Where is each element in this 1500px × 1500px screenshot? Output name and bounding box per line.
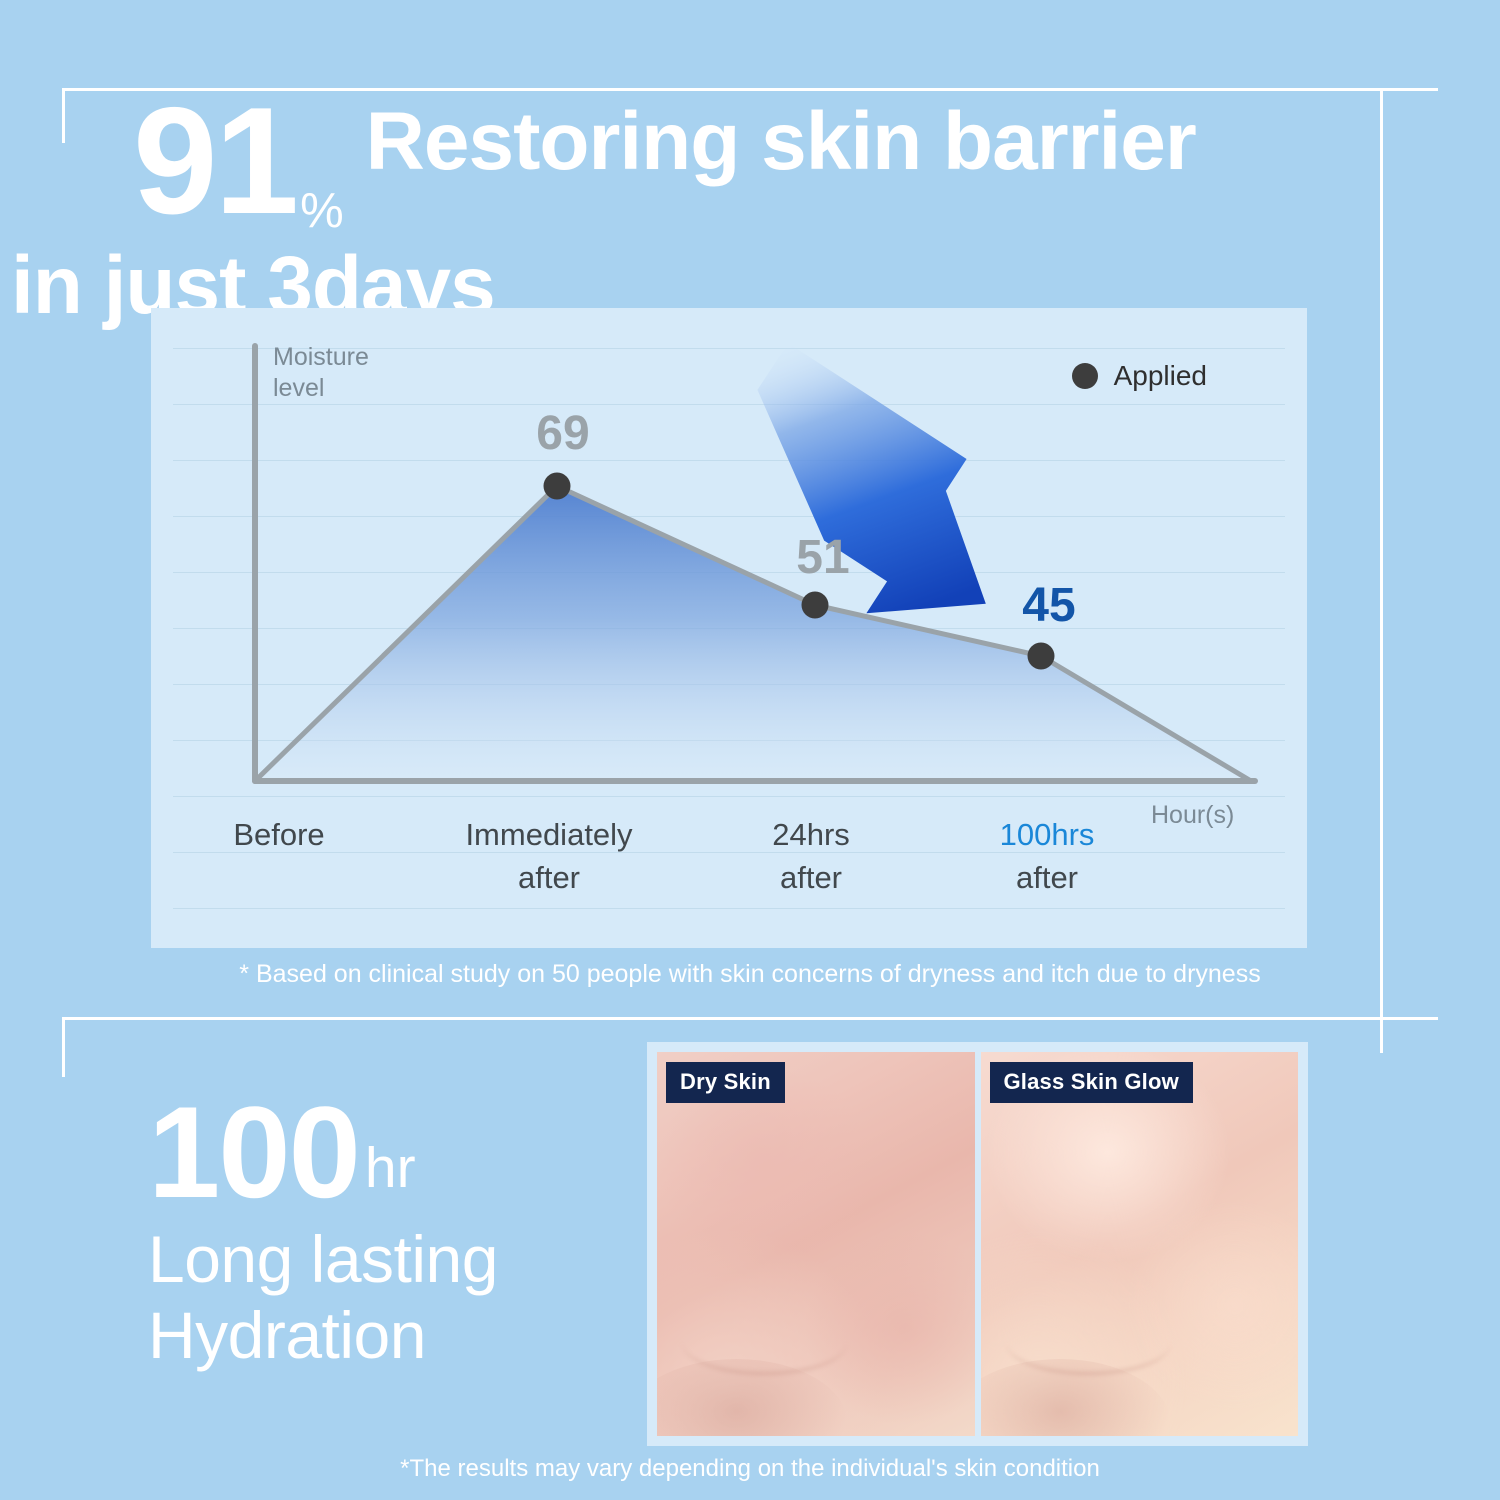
x-tick-before: Before [233,814,324,857]
headline-percent: % [300,187,344,242]
divider-left-vertical-lower [62,1017,65,1077]
x-tick-100hrs-line2: after [1016,860,1078,895]
x-tick-immediately-line2: after [518,860,580,895]
divider-left-vertical [62,88,65,143]
x-tick-immediately-line1: Immediately [465,817,632,852]
x-tick-immediately-after: Immediately after [465,814,632,900]
chart-x-axis-label: Hour(s) [1151,800,1234,831]
x-tick-24hrs-line1: 24hrs [772,817,850,852]
hydration-number-row: 100 hr [148,1092,618,1213]
hydration-subtitle: Long lasting Hydration [148,1221,618,1374]
hydration-subtitle-line2: Hydration [148,1297,618,1374]
x-tick-24hrs-after: 24hrs after [772,814,850,900]
data-point-immediately-after [544,473,571,500]
headline-percent-stack: % [300,92,344,242]
photo-tag-dry-skin: Dry Skin [666,1062,785,1103]
chart-y-axis-label-line1: Moisture [273,342,369,373]
legend-label: Applied [1114,360,1207,392]
photo-glass-skin-glow: Glass Skin Glow [981,1052,1299,1436]
legend-dot-icon [1072,363,1098,389]
data-label-51: 51 [796,530,849,585]
x-tick-before-line1: Before [233,817,324,852]
hydration-claim-block: 100 hr Long lasting Hydration [148,1092,618,1374]
photo-grid: Dry Skin Glass Skin Glow [657,1052,1298,1436]
headline-text: Restoring skin barrier [366,98,1196,187]
data-point-24hrs-after [802,592,829,619]
x-tick-100hrs-after: 100hrs after [1000,814,1095,900]
data-point-100hrs-after [1028,643,1055,670]
x-tick-24hrs-line2: after [780,860,842,895]
footnote-clinical-study: * Based on clinical study on 50 people w… [0,960,1500,989]
divider-middle [62,1017,1438,1020]
chart-y-axis-label: Moisture level [273,342,369,405]
dry-skin-crease [682,1310,847,1374]
hydration-subtitle-line1: Long lasting [148,1221,618,1298]
hydration-unit: hr [365,1140,416,1213]
chart-legend: Applied [1072,360,1207,392]
headline-line-1: Restoring skin barrier [366,98,1196,187]
chart-y-axis-label-line2: level [273,373,369,404]
headline-row: 91 % Restoring skin barrier [133,92,1383,242]
before-after-photos: Dry Skin Glass Skin Glow [647,1042,1308,1446]
hydration-number: 100 [148,1092,359,1213]
glass-skin-crease [1006,1310,1171,1374]
headline-number: 91 [133,92,296,232]
photo-dry-skin: Dry Skin [657,1052,975,1436]
data-label-69: 69 [536,406,589,461]
data-label-45: 45 [1022,578,1075,633]
footnote-results-disclaimer: *The results may vary depending on the i… [0,1455,1500,1483]
x-tick-100hrs-line1: 100hrs [1000,817,1095,852]
moisture-chart-panel: Moisture level Hour(s) Applied 69 51 45 … [151,308,1307,948]
photo-tag-glass-skin-glow: Glass Skin Glow [990,1062,1193,1103]
headline-block: 91 % Restoring skin barrier in just 3day… [133,92,1383,331]
